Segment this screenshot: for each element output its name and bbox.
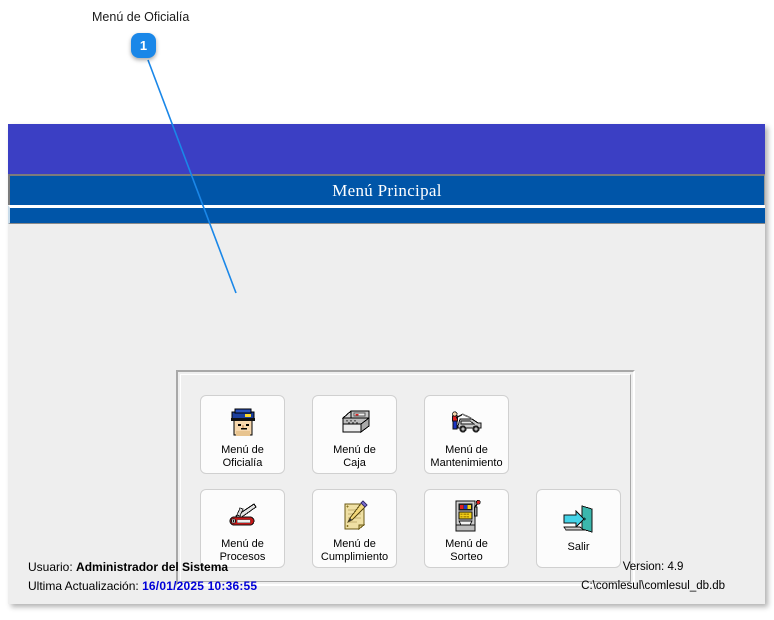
cash-register-icon	[337, 402, 373, 442]
menu-button-label: Menú de Oficialía	[221, 444, 264, 469]
footer-left-block: Usuario: Administrador del Sistema Ultim…	[28, 558, 257, 596]
version-row: Version: 4.9	[581, 558, 725, 577]
menu-button-oficialia[interactable]: Menú de Oficialía	[200, 395, 285, 474]
user-row: Usuario: Administrador del Sistema	[28, 558, 257, 577]
menu-button-caja[interactable]: Menú de Caja	[312, 395, 397, 474]
status-footer: Usuario: Administrador del Sistema Ultim…	[8, 550, 765, 604]
annotation-label: Menú de Oficialía	[92, 10, 189, 24]
menu-button-label: Menú de Mantenimiento	[430, 444, 502, 469]
user-value: Administrador del Sistema	[76, 560, 228, 574]
swiss-army-knife-icon	[224, 496, 262, 536]
version-value: 4.9	[667, 561, 683, 573]
title-underbar	[8, 205, 765, 224]
last-update-value: 16/01/2025 10:36:55	[142, 579, 257, 593]
application-window: Menú Principal	[8, 124, 765, 604]
exit-door-icon	[560, 499, 598, 539]
notepad-pencil-icon	[338, 496, 372, 536]
tow-truck-icon	[448, 402, 486, 442]
annotation-badge: 1	[131, 33, 156, 58]
menu-button-mantenimiento[interactable]: Menú de Mantenimiento	[424, 395, 509, 474]
title-bar-container: Menú Principal	[8, 174, 765, 224]
user-label: Usuario:	[28, 560, 73, 574]
slot-machine-icon	[451, 496, 483, 536]
page-title: Menú Principal	[332, 181, 442, 201]
menu-button-label: Menú de Caja	[333, 444, 376, 469]
title-bar: Menú Principal	[8, 174, 765, 205]
footer-right-block: Version: 4.9 C:\comlesul\comlesul_db.db	[581, 558, 725, 596]
police-officer-icon	[226, 402, 260, 442]
client-area: Menú de Oficialía	[8, 224, 765, 604]
last-update-row: Ultima Actualización: 16/01/2025 10:36:5…	[28, 577, 257, 596]
header-banner	[8, 124, 765, 174]
db-path-row: C:\comlesul\comlesul_db.db	[581, 577, 725, 596]
last-update-label: Ultima Actualización:	[28, 579, 139, 593]
version-label: Version:	[623, 561, 665, 573]
